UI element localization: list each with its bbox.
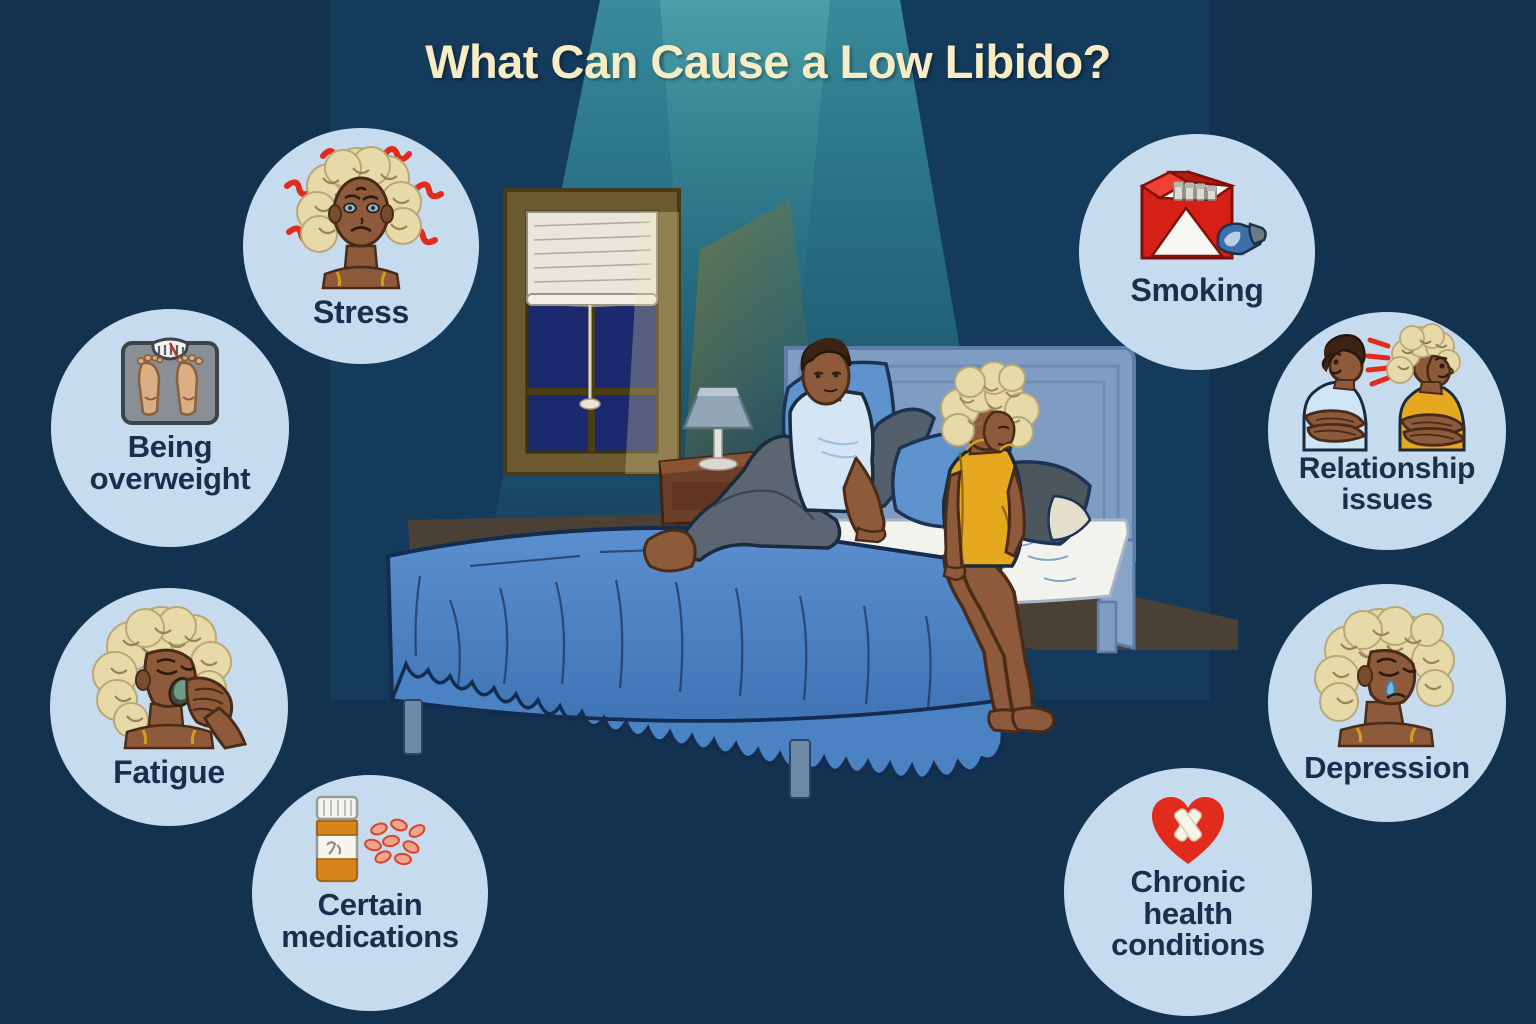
bubble-label-relationship: Relationship issues <box>1299 454 1475 515</box>
arguing-couple-icon <box>1282 324 1492 454</box>
bubble-label-medications: Certain medications <box>281 889 459 952</box>
bubble-fatigue[interactable]: Fatigue <box>50 588 288 826</box>
bubble-stress[interactable]: Stress <box>243 128 479 364</box>
window-illustration <box>505 190 679 474</box>
bubble-label-depression: Depression <box>1304 752 1470 784</box>
yawning-woman-icon <box>69 598 269 756</box>
stressed-woman-icon <box>261 128 461 300</box>
broken-heart-bandage-icon <box>1148 794 1228 866</box>
bubble-overweight[interactable]: Being overweight <box>51 309 289 547</box>
bubble-relationship[interactable]: Relationship issues <box>1268 312 1506 550</box>
bubble-label-stress: Stress <box>313 296 409 329</box>
infographic-canvas: What Can Cause a Low Libido? <box>0 0 1536 1024</box>
bubble-medications[interactable]: Certain medications <box>252 775 488 1011</box>
cigarette-pack-icon <box>1122 160 1272 272</box>
bathroom-scale-icon <box>115 329 225 429</box>
bubble-smoking[interactable]: Smoking <box>1079 134 1315 370</box>
bubble-depression[interactable]: Depression <box>1268 584 1506 822</box>
bubble-label-chronic: Chronic health conditions <box>1111 866 1265 961</box>
bubble-label-fatigue: Fatigue <box>113 756 225 789</box>
pill-bottle-icon <box>295 793 445 889</box>
bubble-label-smoking: Smoking <box>1130 274 1263 307</box>
page-title: What Can Cause a Low Libido? <box>0 34 1536 89</box>
crying-woman-icon <box>1287 598 1487 750</box>
bubble-chronic[interactable]: Chronic health conditions <box>1064 768 1312 1016</box>
bubble-label-overweight: Being overweight <box>90 431 251 494</box>
